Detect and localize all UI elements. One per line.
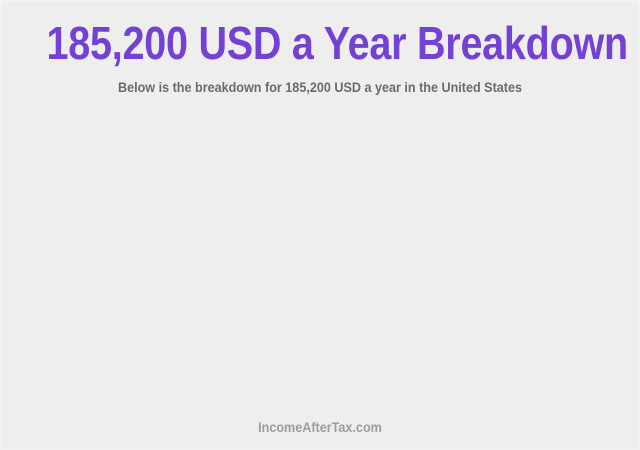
site-credit: IncomeAfterTax.com: [34, 419, 606, 436]
page-footer: IncomeAfterTax.com: [2, 419, 638, 449]
page-title: 185,200 USD a Year Breakdown: [47, 17, 594, 69]
chart-area: empty: [2, 96, 638, 419]
page-header: 185,200 USD a Year Breakdown Below is th…: [2, 1, 638, 96]
page-subtitle: Below is the breakdown for 185,200 USD a…: [34, 78, 606, 96]
content-body: empty: [2, 96, 638, 419]
page-root: 185,200 USD a Year Breakdown Below is th…: [0, 0, 640, 450]
